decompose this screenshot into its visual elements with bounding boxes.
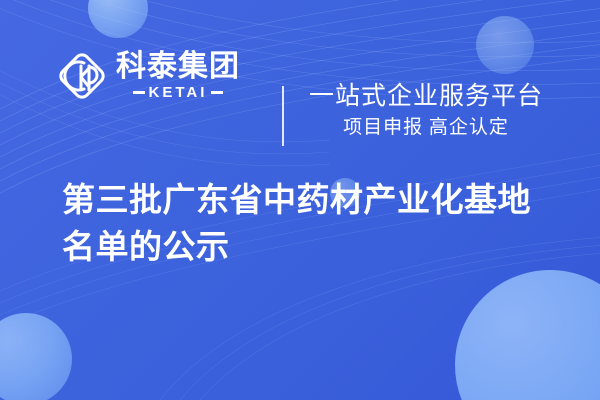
header-divider [282,86,284,146]
brand-name-cn: 科泰集团 [116,52,240,83]
right-dash-icon [211,91,223,94]
banner-header: 科泰集团 KETAI 一站式企业服务平台 项目申报 高企认定 [0,40,600,112]
announcement-banner: 科泰集团 KETAI 一站式企业服务平台 项目申报 高企认定 第三批广东省中药材… [0,0,600,400]
article-title: 第三批广东省中药材产业化基地名单的公示 [62,177,552,271]
left-dash-icon [133,91,145,94]
brand-logo[interactable]: 科泰集团 KETAI [56,50,240,102]
tagline-primary: 一站式企业服务平台 [300,82,552,112]
decorative-circle-bottom-left [0,313,72,400]
brand-wordmark: 科泰集团 KETAI [116,52,240,101]
brand-name-en-row: KETAI [133,85,224,100]
brand-name-en: KETAI [149,85,208,100]
ketai-logo-icon [56,50,108,102]
tagline-secondary: 项目申报 高企认定 [300,116,552,140]
decorative-circle-bottom-right [455,270,600,400]
decorative-circle-top-left [88,0,148,38]
tagline: 一站式企业服务平台 项目申报 高企认定 [300,82,552,139]
